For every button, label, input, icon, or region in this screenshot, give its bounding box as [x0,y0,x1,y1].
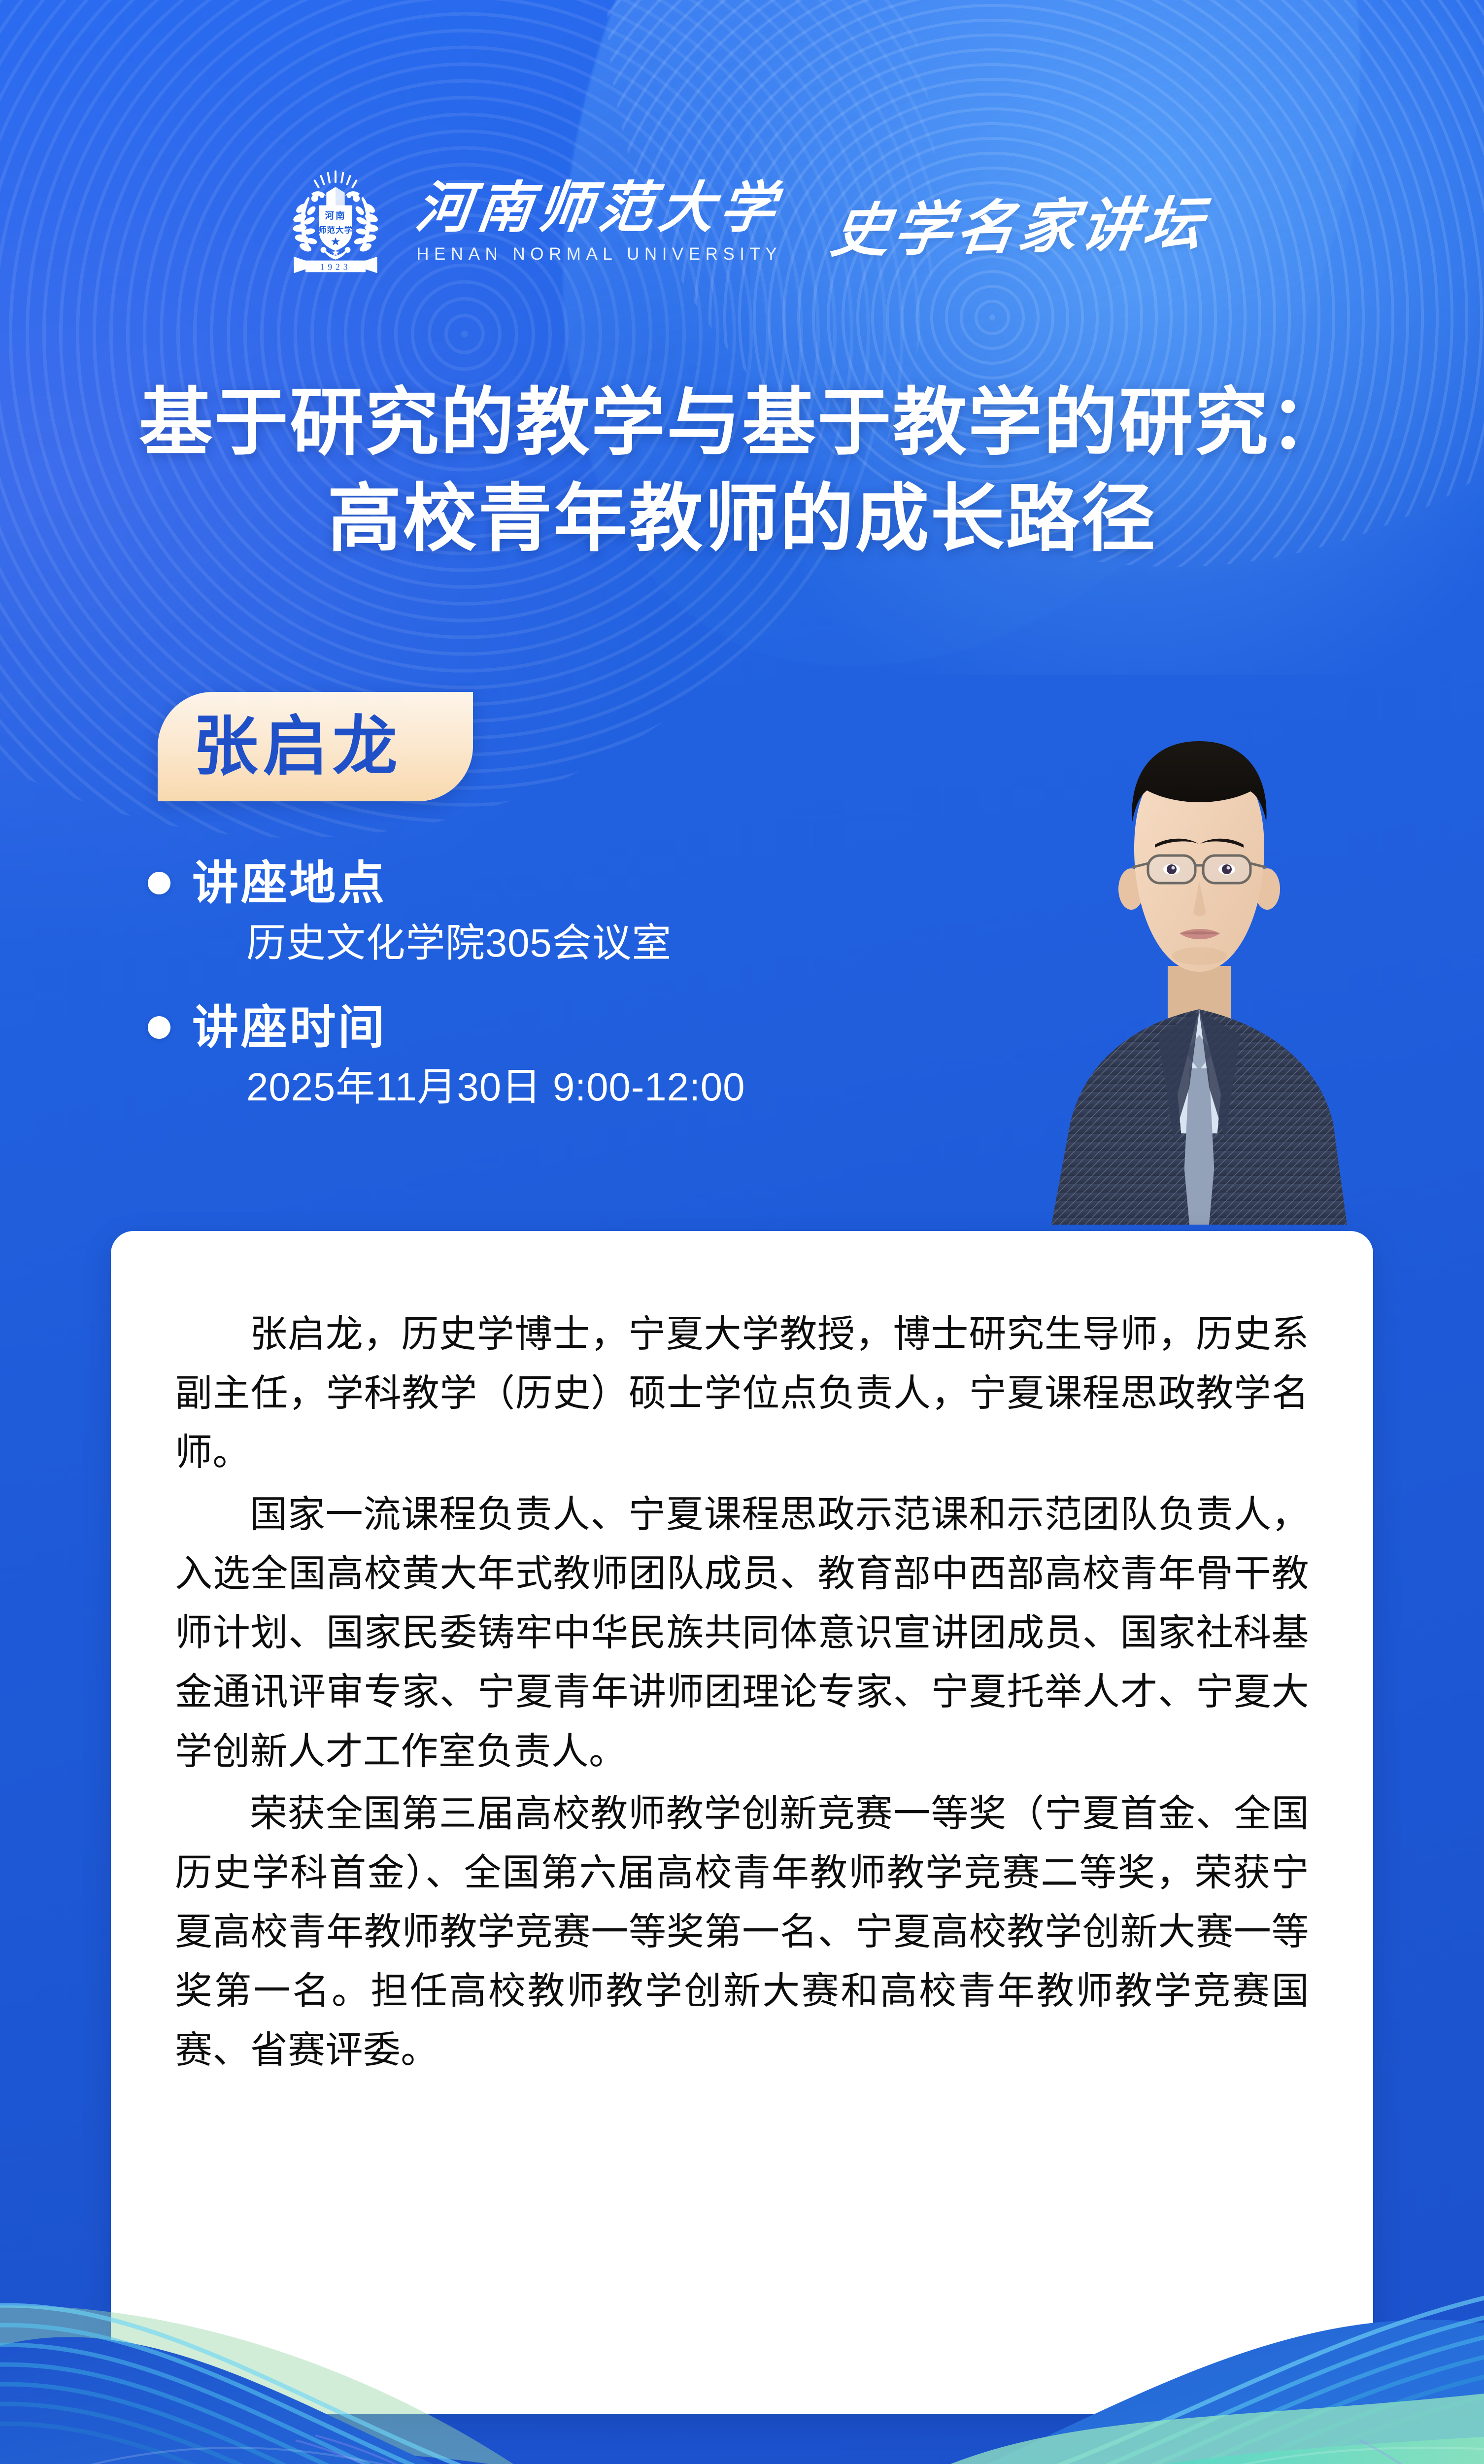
detail-label-location: 讲座地点 [192,855,387,912]
svg-text:1923: 1923 [320,262,351,272]
dot-bullet-icon [148,872,170,894]
detail-row-time: 讲座时间 [148,999,867,1056]
dot-bullet-icon [148,1016,170,1039]
detail-row-location: 讲座地点 [148,855,867,912]
university-name-cn: 河南师范大学 [413,179,784,238]
detail-value-location: 历史文化学院305会议室 [246,919,867,968]
university-emblem-icon: 河南 师范大学 1923 [277,164,394,280]
university-name-block: 河南师范大学 HENAN NORMAL UNIVERSITY [416,179,782,265]
detail-label-time: 讲座时间 [192,999,387,1056]
svg-text:河南: 河南 [325,210,346,221]
poster-header: 河南 师范大学 1923 河南师范大学 HENAN NORMAL UNIVERS… [0,148,1484,296]
bio-paragraph: 国家一流课程负责人、宁夏课程思政示范课和示范团队负责人，入选全国高校黄大年式教师… [175,1485,1309,1781]
speaker-name-badge: 张启龙 [158,692,473,801]
lecture-poster: 河南 师范大学 1923 河南师范大学 HENAN NORMAL UNIVERS… [0,0,1484,2464]
speaker-portrait [1042,690,1357,1225]
university-name-en: HENAN NORMAL UNIVERSITY [416,244,782,264]
speaker-bio-card: 张启龙，历史学博士，宁夏大学教授，博士研究生导师，历史系副主任，学科教学（历史）… [111,1231,1373,2414]
svg-text:师范大学: 师范大学 [318,225,353,235]
lecture-title-line-1: 基于研究的教学与基于教学的研究： [0,375,1484,471]
glow-decor-top-right [750,0,1484,675]
bio-paragraph: 张启龙，历史学博士，宁夏大学教授，博士研究生导师，历史系副主任，学科教学（历史）… [175,1305,1309,1482]
detail-value-time: 2025年11月30日 9:00-12:00 [246,1062,867,1112]
speaker-name: 张启龙 [193,714,402,779]
lecture-details-list: 讲座地点 历史文化学院305会议室 讲座时间 2025年11月30日 9:00-… [148,855,867,1112]
lecture-title: 基于研究的教学与基于教学的研究： 高校青年教师的成长路径 [0,375,1484,567]
bio-paragraph: 荣获全国第三届高校教师教学创新竞赛一等奖（宁夏首金、全国历史学科首金）、全国第六… [175,1784,1309,2080]
lecture-title-line-2: 高校青年教师的成长路径 [0,471,1484,567]
forum-series-title: 史学名家讲坛 [827,176,1213,268]
